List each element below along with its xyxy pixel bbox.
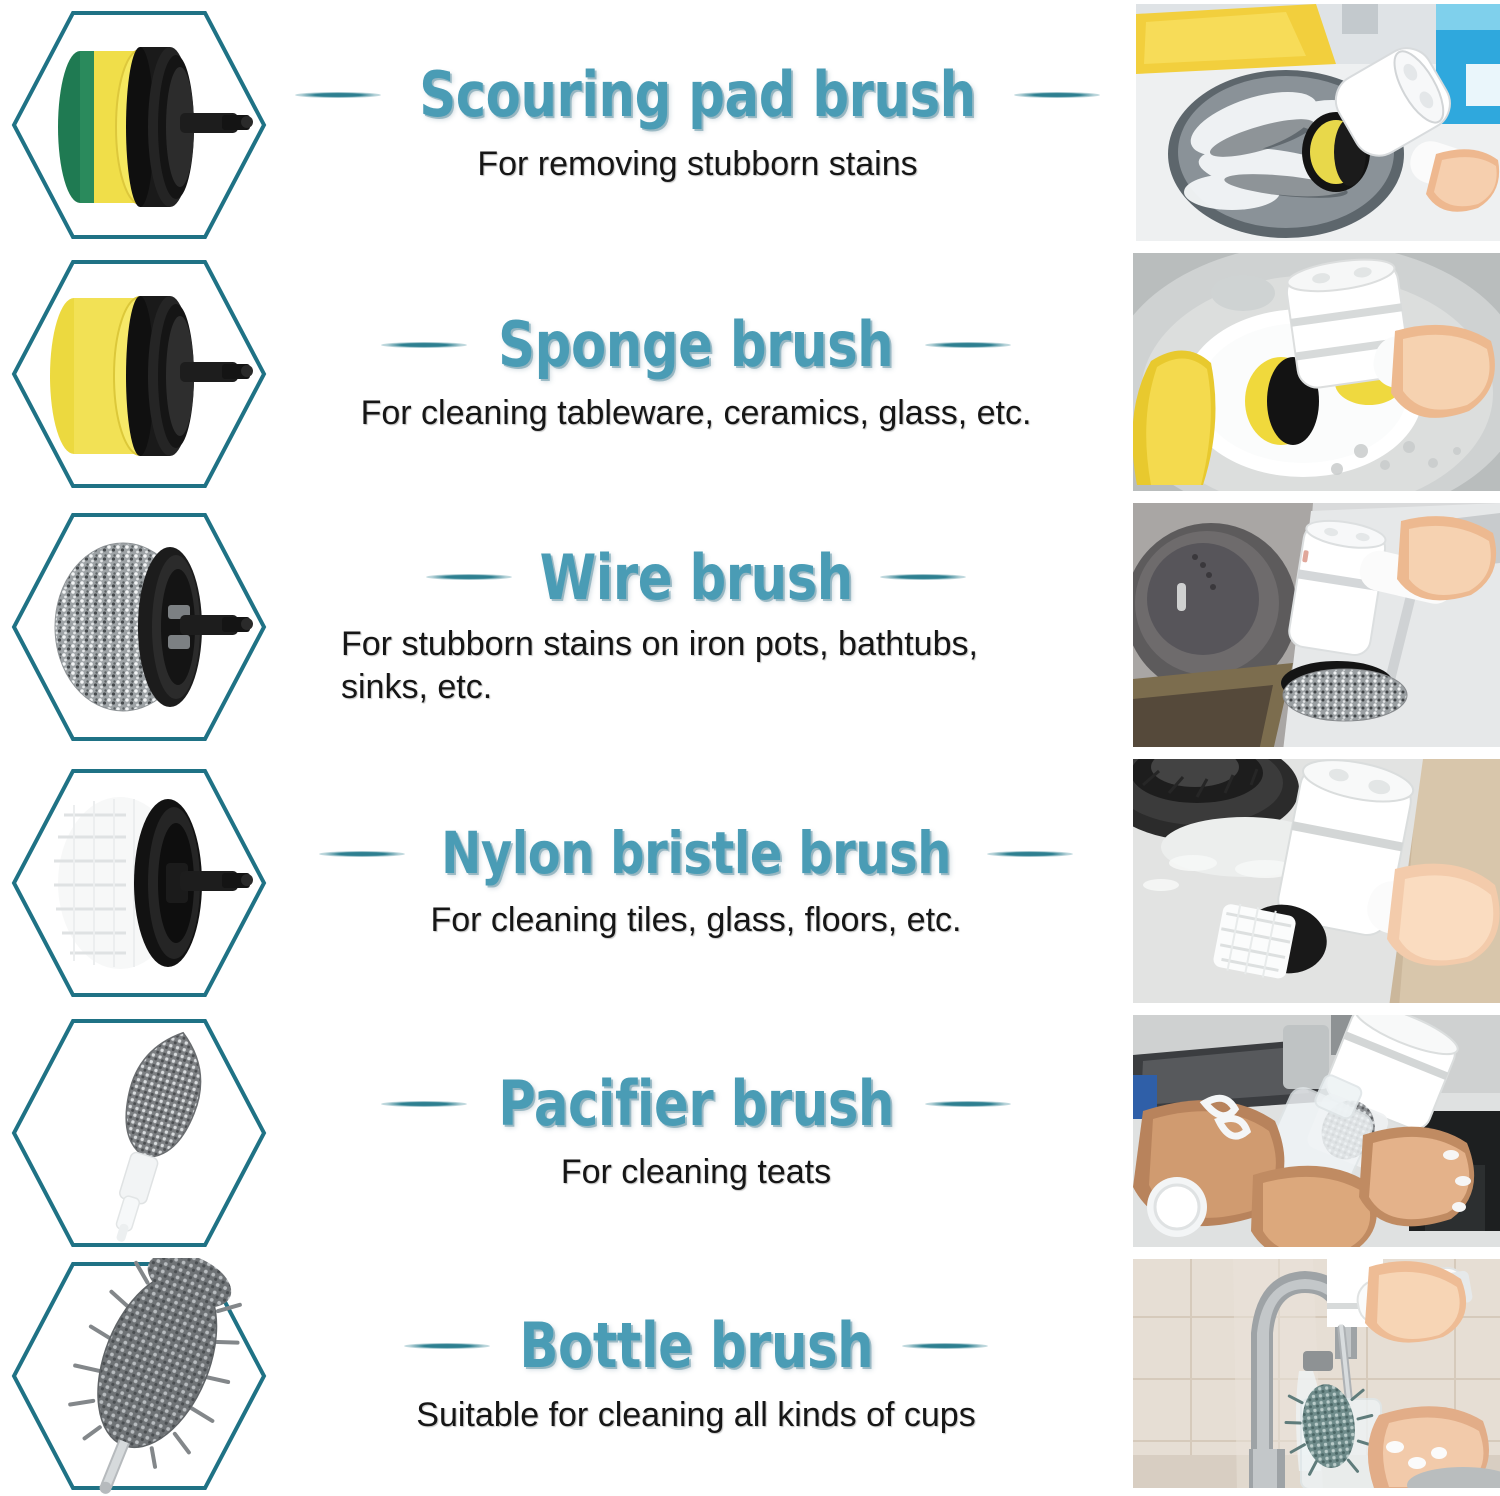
text-cell: Pacifier brush For cleaning teats: [285, 1011, 1125, 1255]
photo-artwork: [1133, 1259, 1500, 1488]
feature-title: Wire brush: [539, 546, 852, 609]
title-line: Nylon bristle brush: [295, 824, 1097, 883]
pacifier-brush-icon: [8, 1015, 270, 1251]
photo-sponge-brush-washing-plate: [1133, 253, 1500, 491]
photo-cell: [1125, 1255, 1500, 1496]
photo-artwork: [1133, 1015, 1500, 1247]
title-dash-left-icon: [295, 92, 381, 98]
icon-cell: [0, 249, 285, 499]
title-dash-left-icon: [404, 1343, 490, 1349]
wire-brush-icon: [8, 509, 270, 745]
title-dash-right-icon: [925, 1101, 1011, 1107]
text-cell: Scouring pad brush For removing stubborn…: [285, 0, 1128, 249]
photo-scouring-pad-in-soapy-pan: [1136, 4, 1500, 241]
photo-cell: [1125, 1011, 1500, 1255]
bottle-brush-icon: [8, 1258, 270, 1494]
title-dash-left-icon: [381, 1101, 467, 1107]
title-line: Pacifier brush: [295, 1072, 1097, 1135]
feature-description: For stubborn stains on iron pots, bathtu…: [295, 623, 1097, 709]
photo-cell: [1125, 755, 1500, 1011]
title-dash-right-icon: [880, 574, 966, 580]
feature-title: Nylon bristle brush: [441, 824, 951, 883]
title-dash-right-icon: [902, 1343, 988, 1349]
photo-pacifier-brush-cleaning-bottle: [1133, 1015, 1500, 1247]
photo-wire-brush-on-stovetop: [1133, 503, 1500, 747]
title-dash-left-icon: [319, 851, 405, 857]
text-cell: Nylon bristle brush For cleaning tiles, …: [285, 755, 1125, 1011]
feature-description: For cleaning teats: [295, 1151, 1097, 1194]
title-line: Bottle brush: [295, 1314, 1097, 1377]
feature-description: For removing stubborn stains: [295, 143, 1100, 186]
title-dash-right-icon: [925, 342, 1011, 348]
photo-artwork: [1136, 4, 1500, 241]
title-line: Sponge brush: [295, 313, 1097, 376]
photo-artwork: [1133, 503, 1500, 747]
title-dash-left-icon: [381, 342, 467, 348]
product-feature-infographic: Scouring pad brush For removing stubborn…: [0, 0, 1500, 1496]
nylon-bristle-brush-icon: [8, 765, 270, 1001]
text-cell: Sponge brush For cleaning tableware, cer…: [285, 249, 1125, 499]
feature-title: Sponge brush: [498, 313, 893, 376]
feature-row-sponge-brush: Sponge brush For cleaning tableware, cer…: [0, 249, 1500, 499]
title-dash-right-icon: [1014, 92, 1100, 98]
scouring-pad-brush-icon: [8, 7, 270, 243]
photo-cell: [1125, 249, 1500, 499]
sponge-brush-icon: [8, 256, 270, 492]
photo-artwork: [1133, 759, 1500, 1003]
title-line: Wire brush: [295, 546, 1097, 609]
feature-row-nylon-bristle-brush: Nylon bristle brush For cleaning tiles, …: [0, 755, 1500, 1011]
feature-description: For cleaning tableware, ceramics, glass,…: [295, 392, 1097, 435]
feature-row-bottle-brush: Bottle brush Suitable for cleaning all k…: [0, 1255, 1500, 1496]
icon-cell: [0, 755, 285, 1011]
photo-bottle-brush-under-faucet: [1133, 1259, 1500, 1488]
photo-cell: [1128, 0, 1500, 249]
icon-cell: [0, 1255, 285, 1496]
feature-row-scouring-pad-brush: Scouring pad brush For removing stubborn…: [0, 0, 1500, 249]
feature-title: Pacifier brush: [498, 1072, 894, 1135]
title-dash-right-icon: [987, 851, 1073, 857]
feature-row-pacifier-brush: Pacifier brush For cleaning teats: [0, 1011, 1500, 1255]
text-cell: Bottle brush Suitable for cleaning all k…: [285, 1255, 1125, 1496]
photo-cell: [1125, 499, 1500, 755]
feature-title: Bottle brush: [519, 1314, 873, 1377]
feature-row-wire-brush: Wire brush For stubborn stains on iron p…: [0, 499, 1500, 755]
photo-artwork: [1133, 253, 1500, 491]
feature-description: Suitable for cleaning all kinds of cups: [295, 1394, 1097, 1437]
title-line: Scouring pad brush: [295, 63, 1100, 126]
photo-nylon-brush-on-wet-counter: [1133, 759, 1500, 1003]
icon-cell: [0, 0, 285, 249]
title-dash-left-icon: [426, 574, 512, 580]
icon-cell: [0, 1011, 285, 1255]
feature-description: For cleaning tiles, glass, floors, etc.: [295, 899, 1097, 942]
icon-cell: [0, 499, 285, 755]
feature-title: Scouring pad brush: [419, 63, 976, 126]
text-cell: Wire brush For stubborn stains on iron p…: [285, 499, 1125, 755]
